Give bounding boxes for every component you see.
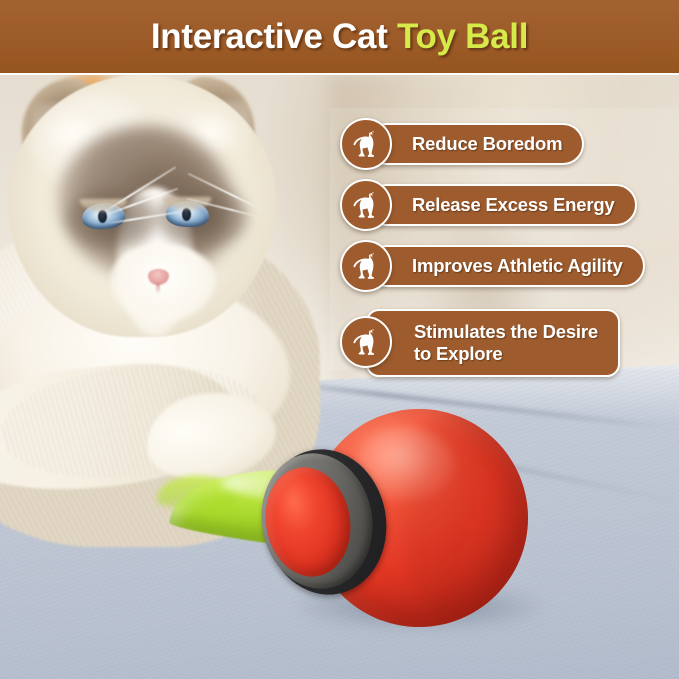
cat-philtrum	[156, 283, 160, 294]
sitting-cat-silhouette-icon	[340, 118, 392, 170]
cat-toy-product	[150, 387, 550, 637]
feature-label: Reduce Boredom	[366, 123, 584, 165]
page-title: Interactive Cat Toy Ball	[151, 19, 528, 54]
title-accent-text: Toy Ball	[397, 17, 528, 56]
sitting-cat-silhouette-icon	[340, 179, 392, 231]
feature-item-reduce-boredom[interactable]: Reduce Boredom	[340, 118, 679, 170]
feature-item-stimulates-desire-to-explore[interactable]: Stimulates the Desire to Explore	[340, 306, 679, 380]
feature-label-multiline: Stimulates the Desire to Explore	[366, 309, 620, 377]
feature-item-release-excess-energy[interactable]: Release Excess Energy	[340, 179, 679, 231]
feature-label-line2: to Explore	[414, 343, 502, 365]
feature-list: Reduce Boredom Release Excess Energy Imp…	[340, 118, 679, 389]
feature-item-improves-athletic-agility[interactable]: Improves Athletic Agility	[340, 240, 679, 292]
feature-label: Improves Athletic Agility	[366, 245, 645, 287]
product-poster: Interactive Cat Toy Ball	[0, 0, 679, 679]
sitting-cat-silhouette-icon	[340, 240, 392, 292]
feature-label: Release Excess Energy	[366, 184, 637, 226]
title-main-text: Interactive Cat	[151, 17, 388, 56]
sitting-cat-silhouette-icon	[340, 316, 392, 368]
header-banner: Interactive Cat Toy Ball	[0, 0, 679, 73]
feature-label-line1: Stimulates the Desire	[414, 321, 598, 343]
